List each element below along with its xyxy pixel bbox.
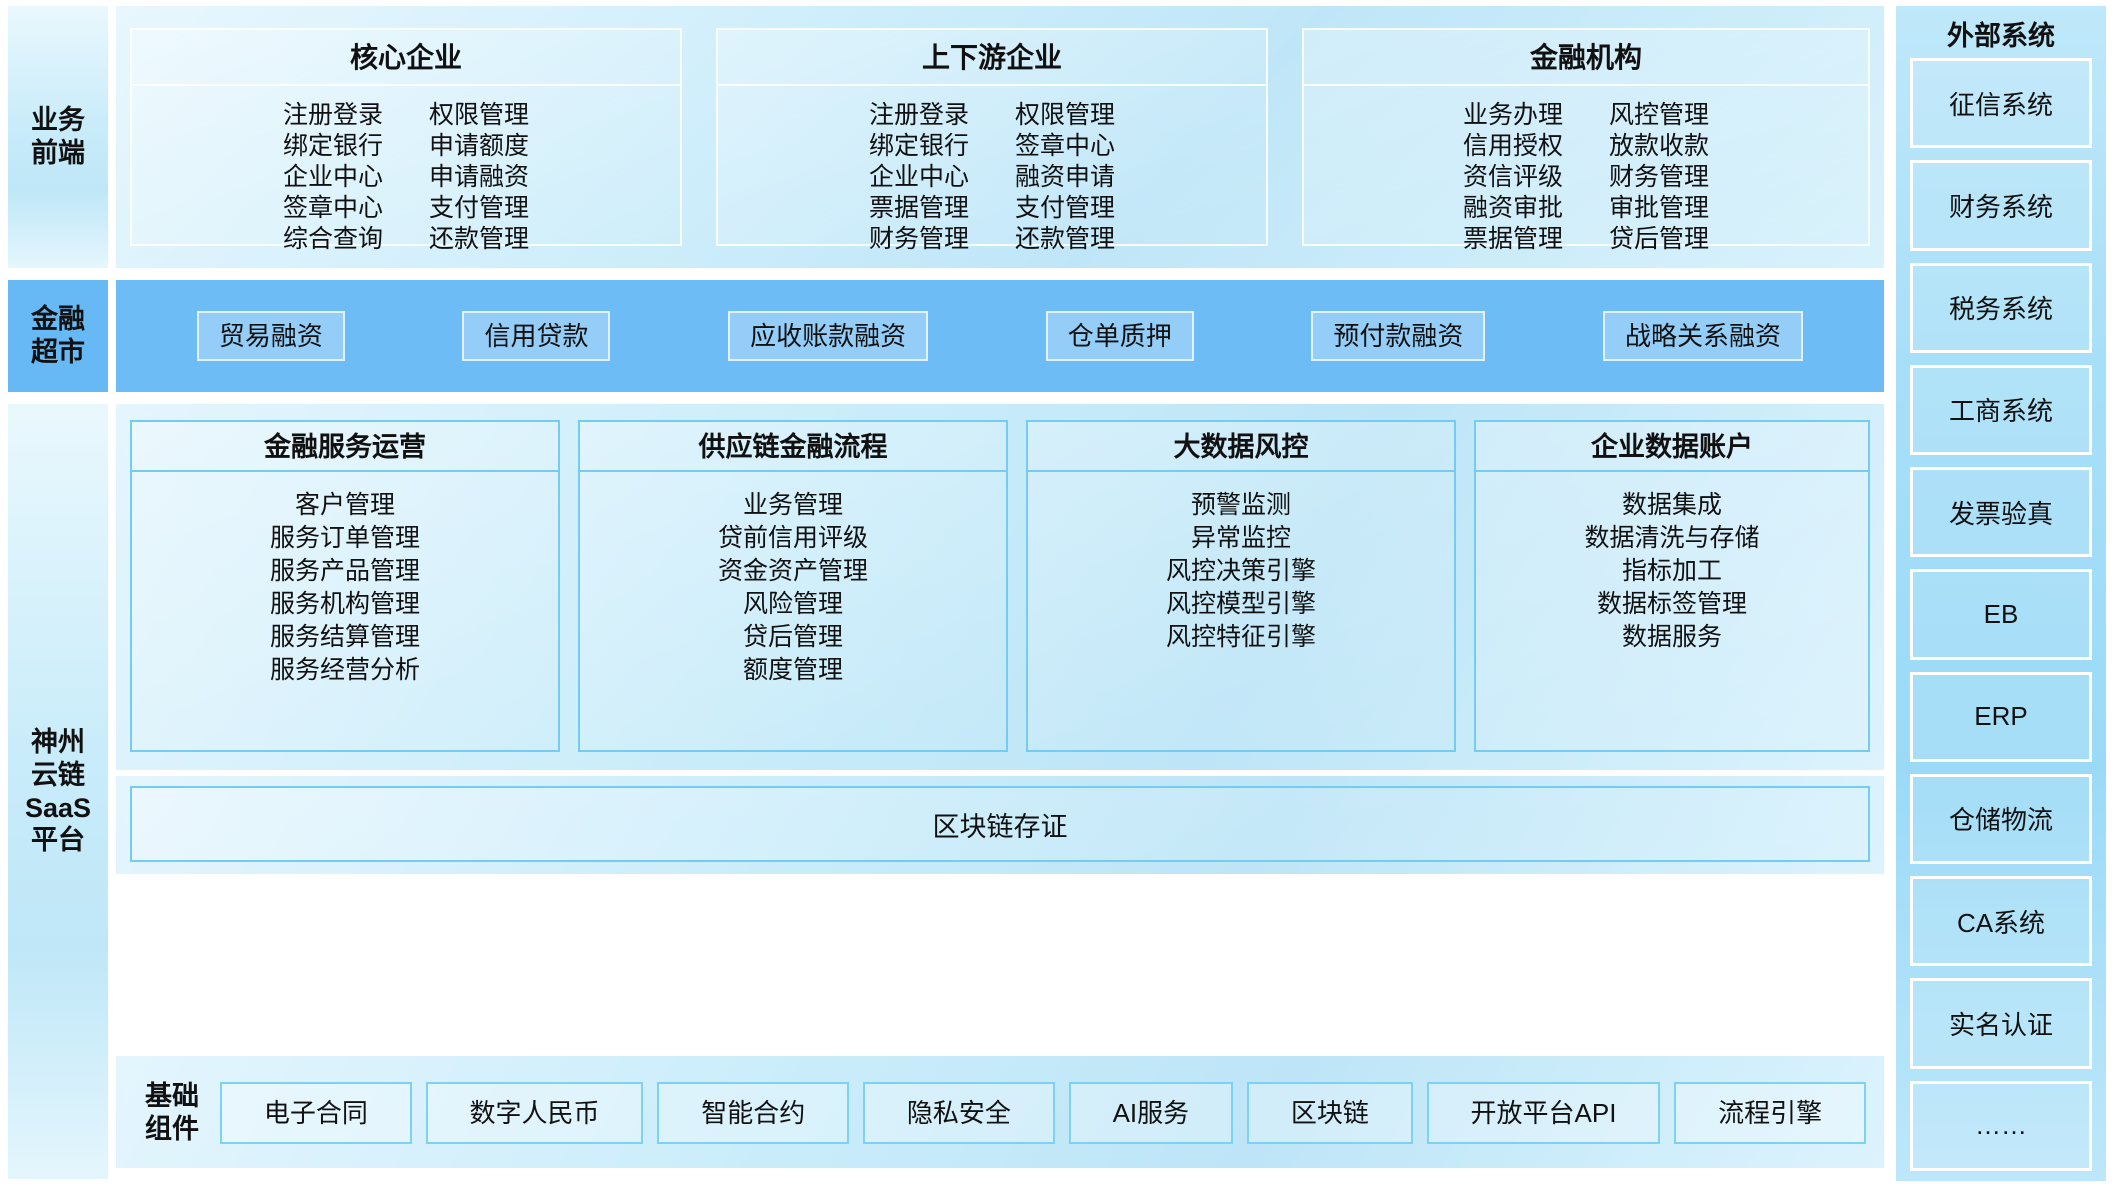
role-item[interactable]: 企业中心 xyxy=(283,162,383,192)
role-item[interactable]: 注册登录 xyxy=(869,100,969,130)
base-component-chip[interactable]: 流程引擎 xyxy=(1674,1082,1866,1144)
saas-modules-panel: 金融服务运营 客户管理 服务订单管理 服务产品管理 服务机构管理 服务结算管理 … xyxy=(116,404,1884,770)
role-item[interactable]: 企业中心 xyxy=(869,162,969,192)
module-item[interactable]: 资金资产管理 xyxy=(718,556,868,587)
layer-label-finance-market-text: 金融超市 xyxy=(31,303,85,369)
module-item[interactable]: 服务产品管理 xyxy=(270,556,420,587)
role-column-left: 注册登录 绑定银行 企业中心 票据管理 财务管理 xyxy=(869,100,969,254)
layer-label-business-front-text: 业务前端 xyxy=(31,104,85,170)
role-item[interactable]: 绑定银行 xyxy=(283,131,383,161)
role-item[interactable]: 综合查询 xyxy=(283,224,383,254)
role-item[interactable]: 还款管理 xyxy=(1015,224,1115,254)
base-component-chip[interactable]: AI服务 xyxy=(1069,1082,1233,1144)
role-item[interactable]: 审批管理 xyxy=(1609,193,1709,223)
finance-product-chip[interactable]: 信用贷款 xyxy=(462,311,610,361)
role-item[interactable]: 贷后管理 xyxy=(1609,224,1709,254)
base-components-chip-row: 电子合同 数字人民币 智能合约 隐私安全 AI服务 区块链 开放平台API 流程… xyxy=(220,1076,1866,1150)
role-card-columns: 注册登录 绑定银行 企业中心 签章中心 综合查询 权限管理 申请额度 申请融资 … xyxy=(132,86,680,254)
module-card-title: 供应链金融流程 xyxy=(580,422,1006,472)
module-item[interactable]: 服务经营分析 xyxy=(270,655,420,686)
layer-label-saas-platform: 神州云链SaaS平台 xyxy=(8,404,108,1179)
finance-market-panel: 贸易融资 信用贷款 应收账款融资 仓单质押 预付款融资 战略关系融资 xyxy=(116,280,1884,392)
role-card-title: 核心企业 xyxy=(132,30,680,86)
module-item[interactable]: 数据标签管理 xyxy=(1597,589,1747,620)
business-front-panel: 核心企业 注册登录 绑定银行 企业中心 签章中心 综合查询 权限管理 申请额度 … xyxy=(116,6,1884,268)
role-item[interactable]: 签章中心 xyxy=(1015,131,1115,161)
layer-label-saas-platform-text: 神州云链SaaS平台 xyxy=(25,726,91,858)
external-systems-list: 征信系统 财务系统 税务系统 工商系统 发票验真 EB ERP 仓储物流 CA系… xyxy=(1910,58,2092,1171)
role-item[interactable]: 业务办理 xyxy=(1463,100,1563,130)
module-item[interactable]: 业务管理 xyxy=(743,490,843,521)
finance-product-chip[interactable]: 仓单质押 xyxy=(1046,311,1194,361)
role-card-title: 金融机构 xyxy=(1304,30,1868,86)
module-item-list: 客户管理 服务订单管理 服务产品管理 服务机构管理 服务结算管理 服务经营分析 xyxy=(132,472,558,686)
role-card-financial-institution[interactable]: 金融机构 业务办理 信用授权 资信评级 融资审批 票据管理 风控管理 放款收款 … xyxy=(1302,28,1870,246)
external-system-chip[interactable]: 工商系统 xyxy=(1910,365,2092,455)
layer-label-base-components: 基础组件 xyxy=(134,1078,210,1148)
module-item[interactable]: 贷前信用评级 xyxy=(718,523,868,554)
module-item[interactable]: 风控特征引擎 xyxy=(1166,622,1316,653)
finance-product-chip[interactable]: 预付款融资 xyxy=(1311,311,1485,361)
module-item[interactable]: 数据服务 xyxy=(1622,622,1722,653)
role-card-columns: 业务办理 信用授权 资信评级 融资审批 票据管理 风控管理 放款收款 财务管理 … xyxy=(1304,86,1868,254)
base-component-chip[interactable]: 数字人民币 xyxy=(426,1082,644,1144)
base-component-chip[interactable]: 隐私安全 xyxy=(863,1082,1055,1144)
external-system-chip[interactable]: EB xyxy=(1910,569,2092,659)
module-item[interactable]: 数据清洗与存储 xyxy=(1584,523,1759,554)
role-card-upstream-downstream-enterprise[interactable]: 上下游企业 注册登录 绑定银行 企业中心 票据管理 财务管理 权限管理 签章中心… xyxy=(716,28,1268,246)
role-card-columns: 注册登录 绑定银行 企业中心 票据管理 财务管理 权限管理 签章中心 融资申请 … xyxy=(718,86,1266,254)
layer-label-business-front: 业务前端 xyxy=(8,6,108,268)
role-column-left: 注册登录 绑定银行 企业中心 签章中心 综合查询 xyxy=(283,100,383,254)
module-card-financial-service-operation[interactable]: 金融服务运营 客户管理 服务订单管理 服务产品管理 服务机构管理 服务结算管理 … xyxy=(130,420,560,752)
external-system-chip[interactable]: 财务系统 xyxy=(1910,160,2092,250)
role-item[interactable]: 签章中心 xyxy=(283,193,383,223)
module-item[interactable]: 服务结算管理 xyxy=(270,622,420,653)
external-system-chip[interactable]: 税务系统 xyxy=(1910,263,2092,353)
module-card-title: 大数据风控 xyxy=(1028,422,1454,472)
role-item[interactable]: 支付管理 xyxy=(1015,193,1115,223)
module-item[interactable]: 贷后管理 xyxy=(743,622,843,653)
external-systems-panel: 外部系统 征信系统 财务系统 税务系统 工商系统 发票验真 EB ERP 仓储物… xyxy=(1896,6,2106,1181)
base-component-chip[interactable]: 区块链 xyxy=(1247,1082,1413,1144)
external-system-chip[interactable]: 仓储物流 xyxy=(1910,774,2092,864)
role-item[interactable]: 融资审批 xyxy=(1463,193,1563,223)
external-system-chip[interactable]: 征信系统 xyxy=(1910,58,2092,148)
role-item[interactable]: 财务管理 xyxy=(869,224,969,254)
role-column-right: 权限管理 签章中心 融资申请 支付管理 还款管理 xyxy=(1015,100,1115,254)
role-card-title: 上下游企业 xyxy=(718,30,1266,86)
role-item[interactable]: 申请融资 xyxy=(429,162,529,192)
module-card-title: 金融服务运营 xyxy=(132,422,558,472)
role-item[interactable]: 信用授权 xyxy=(1463,131,1563,161)
role-column-right: 权限管理 申请额度 申请融资 支付管理 还款管理 xyxy=(429,100,529,254)
role-item[interactable]: 申请额度 xyxy=(429,131,529,161)
module-card-enterprise-data-account[interactable]: 企业数据账户 数据集成 数据清洗与存储 指标加工 数据标签管理 数据服务 xyxy=(1474,420,1870,752)
module-item[interactable]: 风控决策引擎 xyxy=(1166,556,1316,587)
role-item[interactable]: 支付管理 xyxy=(429,193,529,223)
architecture-diagram: 业务前端 核心企业 注册登录 绑定银行 企业中心 签章中心 综合查询 权限管理 … xyxy=(0,0,2114,1187)
module-item[interactable]: 数据集成 xyxy=(1622,490,1722,521)
module-item-list: 数据集成 数据清洗与存储 指标加工 数据标签管理 数据服务 xyxy=(1476,472,1868,653)
layer-label-finance-market: 金融超市 xyxy=(8,280,108,392)
external-systems-title: 外部系统 xyxy=(1896,14,2106,53)
role-item[interactable]: 权限管理 xyxy=(1015,100,1115,130)
role-item[interactable]: 票据管理 xyxy=(1463,224,1563,254)
base-component-chip[interactable]: 开放平台API xyxy=(1427,1082,1661,1144)
external-system-chip[interactable]: 实名认证 xyxy=(1910,978,2092,1068)
module-item[interactable]: 服务订单管理 xyxy=(270,523,420,554)
module-item[interactable]: 风险管理 xyxy=(743,589,843,620)
role-item[interactable]: 绑定银行 xyxy=(869,131,969,161)
layer-label-base-components-text: 基础组件 xyxy=(145,1080,199,1146)
external-system-chip[interactable]: ERP xyxy=(1910,672,2092,762)
module-item[interactable]: 指标加工 xyxy=(1622,556,1722,587)
finance-product-chip[interactable]: 战略关系融资 xyxy=(1603,311,1803,361)
role-item[interactable]: 资信评级 xyxy=(1463,162,1563,192)
finance-market-chip-row: 贸易融资 信用贷款 应收账款融资 仓单质押 预付款融资 战略关系融资 xyxy=(116,280,1884,392)
module-card-supply-chain-finance-process[interactable]: 供应链金融流程 业务管理 贷前信用评级 资金资产管理 风险管理 贷后管理 额度管… xyxy=(578,420,1008,752)
role-item[interactable]: 放款收款 xyxy=(1609,131,1709,161)
external-system-chip[interactable]: 发票验真 xyxy=(1910,467,2092,557)
role-item[interactable]: 票据管理 xyxy=(869,193,969,223)
role-card-core-enterprise[interactable]: 核心企业 注册登录 绑定银行 企业中心 签章中心 综合查询 权限管理 申请额度 … xyxy=(130,28,682,246)
role-item[interactable]: 风控管理 xyxy=(1609,100,1709,130)
module-item[interactable]: 异常监控 xyxy=(1191,523,1291,554)
base-component-chip[interactable]: 电子合同 xyxy=(220,1082,412,1144)
module-item[interactable]: 额度管理 xyxy=(743,655,843,686)
role-item[interactable]: 财务管理 xyxy=(1609,162,1709,192)
external-system-chip[interactable]: …… xyxy=(1910,1081,2092,1171)
role-item[interactable]: 权限管理 xyxy=(429,100,529,130)
blockchain-evidence-bar[interactable]: 区块链存证 xyxy=(130,786,1870,862)
role-column-left: 业务办理 信用授权 资信评级 融资审批 票据管理 xyxy=(1463,100,1563,254)
role-item[interactable]: 融资申请 xyxy=(1015,162,1115,192)
module-item[interactable]: 预警监测 xyxy=(1191,490,1291,521)
module-item[interactable]: 风控模型引擎 xyxy=(1166,589,1316,620)
module-card-title: 企业数据账户 xyxy=(1476,422,1868,472)
module-item[interactable]: 客户管理 xyxy=(295,490,395,521)
role-column-right: 风控管理 放款收款 财务管理 审批管理 贷后管理 xyxy=(1609,100,1709,254)
module-card-big-data-risk-control[interactable]: 大数据风控 预警监测 异常监控 风控决策引擎 风控模型引擎 风控特征引擎 xyxy=(1026,420,1456,752)
external-system-chip[interactable]: CA系统 xyxy=(1910,876,2092,966)
blockchain-bar-panel: 区块链存证 xyxy=(116,776,1884,874)
base-components-panel: 基础组件 电子合同 数字人民币 智能合约 隐私安全 AI服务 区块链 开放平台A… xyxy=(116,1056,1884,1168)
module-item-list: 业务管理 贷前信用评级 资金资产管理 风险管理 贷后管理 额度管理 xyxy=(580,472,1006,686)
role-item[interactable]: 注册登录 xyxy=(283,100,383,130)
module-item[interactable]: 服务机构管理 xyxy=(270,589,420,620)
finance-product-chip[interactable]: 贸易融资 xyxy=(197,311,345,361)
role-item[interactable]: 还款管理 xyxy=(429,224,529,254)
module-item-list: 预警监测 异常监控 风控决策引擎 风控模型引擎 风控特征引擎 xyxy=(1028,472,1454,653)
finance-product-chip[interactable]: 应收账款融资 xyxy=(728,311,928,361)
base-component-chip[interactable]: 智能合约 xyxy=(657,1082,849,1144)
